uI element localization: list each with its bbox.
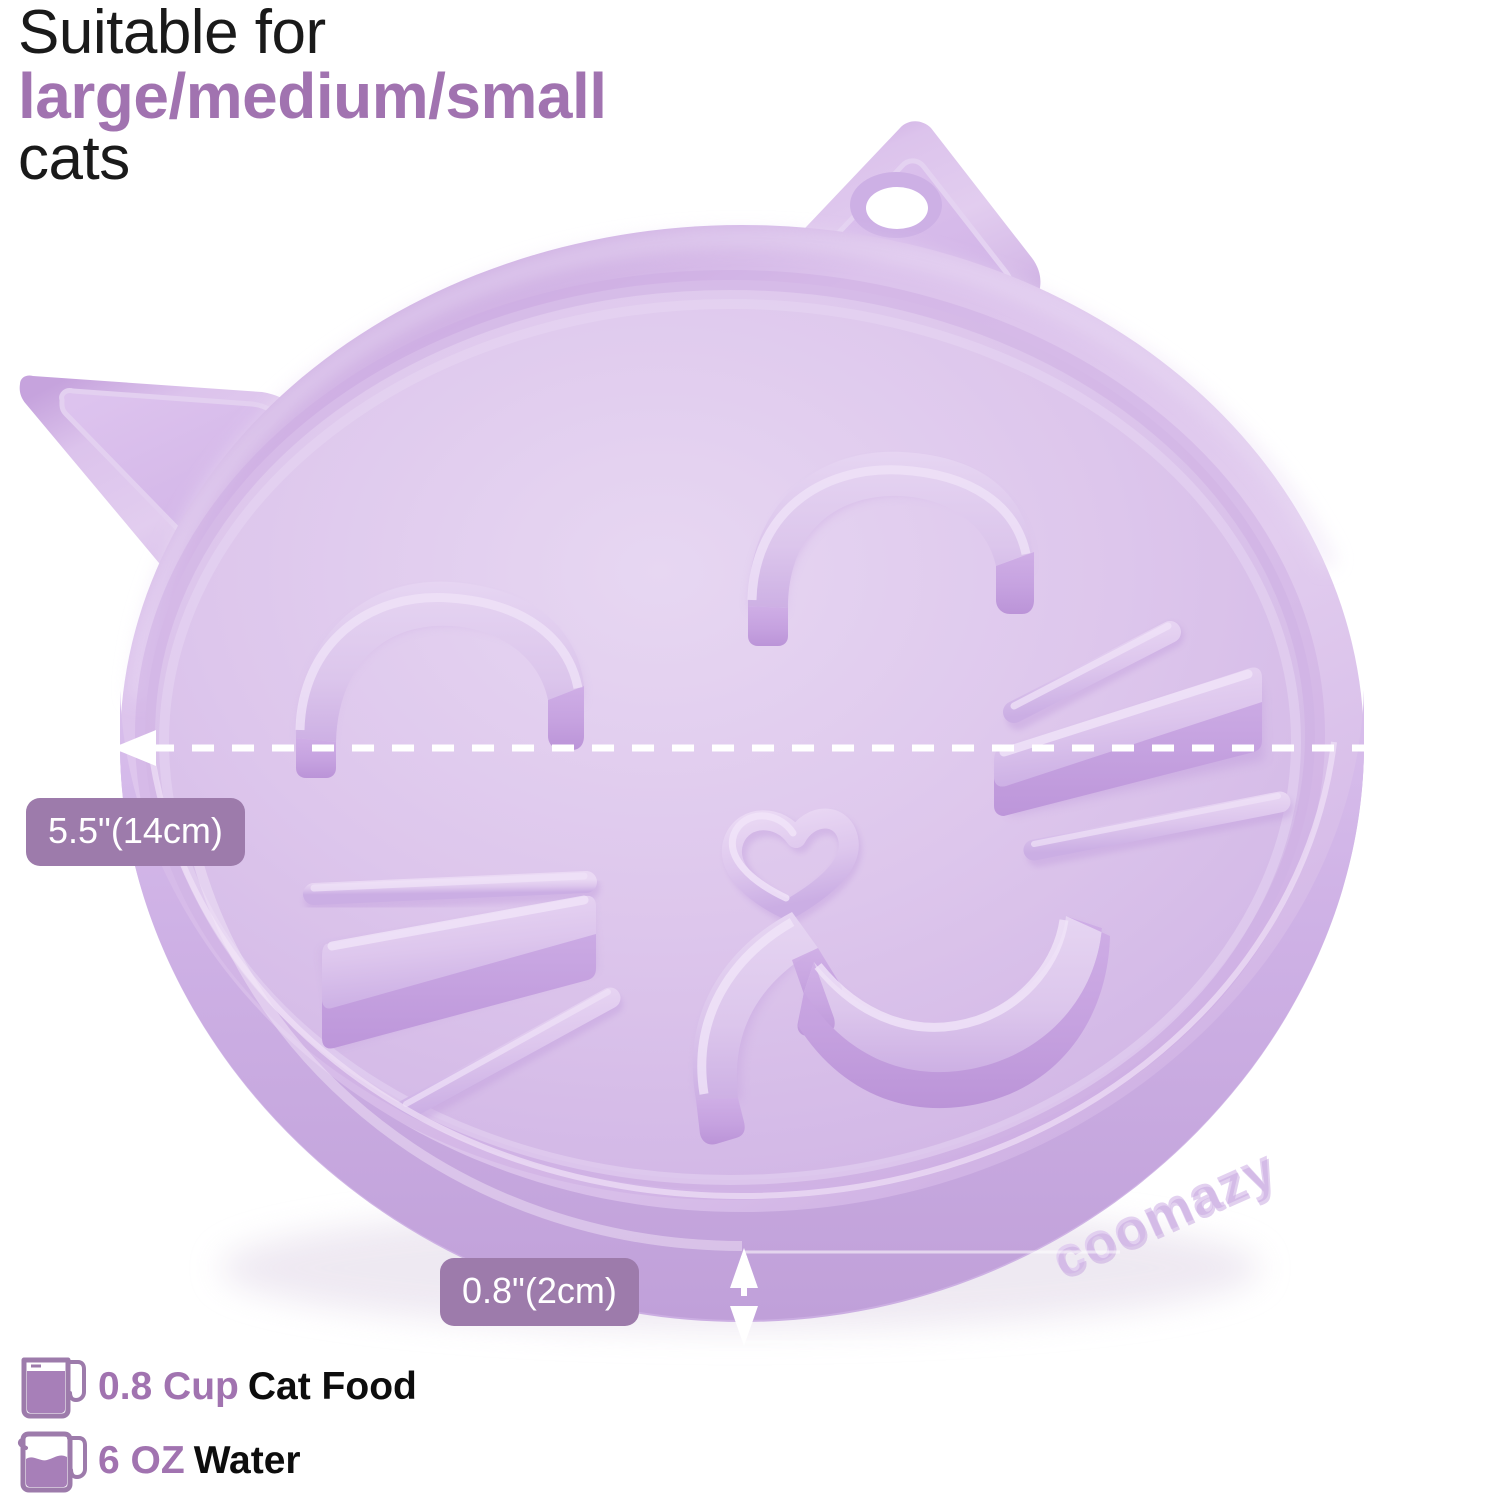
headline-line-3: cats: [18, 128, 878, 190]
legend-label-food: Cat Food: [248, 1365, 417, 1408]
product-image: coomazy coomazy: [0, 0, 1489, 1500]
product-infographic: Suitable for large/medium/small cats: [0, 0, 1489, 1500]
legend-qty-water: 6 OZ: [98, 1439, 185, 1482]
capacity-legend: 0.8 CupCat Food 6 OZWater: [16, 1350, 417, 1498]
pitcher-fill: [26, 1455, 67, 1487]
legend-text-water: 6 OZWater: [98, 1439, 301, 1483]
legend-qty-food: 0.8 Cup: [98, 1365, 239, 1408]
water-pitcher-icon: [16, 1426, 92, 1496]
hang-hole: [866, 187, 928, 229]
width-arrow-right: [1398, 730, 1444, 766]
height-dimension-badge: 0.8"(2cm): [440, 1258, 639, 1326]
headline-line-2: large/medium/small: [18, 64, 878, 128]
legend-row-water: 6 OZWater: [16, 1424, 417, 1498]
legend-row-food: 0.8 CupCat Food: [16, 1350, 417, 1424]
measuring-cup-icon: [16, 1352, 92, 1422]
headline-line-1: Suitable for: [18, 2, 878, 64]
legend-label-water: Water: [194, 1439, 301, 1482]
cup-fill: [27, 1371, 65, 1413]
width-dimension-badge: 5.5"(14cm): [26, 798, 245, 866]
headline-block: Suitable for large/medium/small cats: [18, 2, 878, 190]
legend-text-food: 0.8 CupCat Food: [98, 1365, 417, 1409]
